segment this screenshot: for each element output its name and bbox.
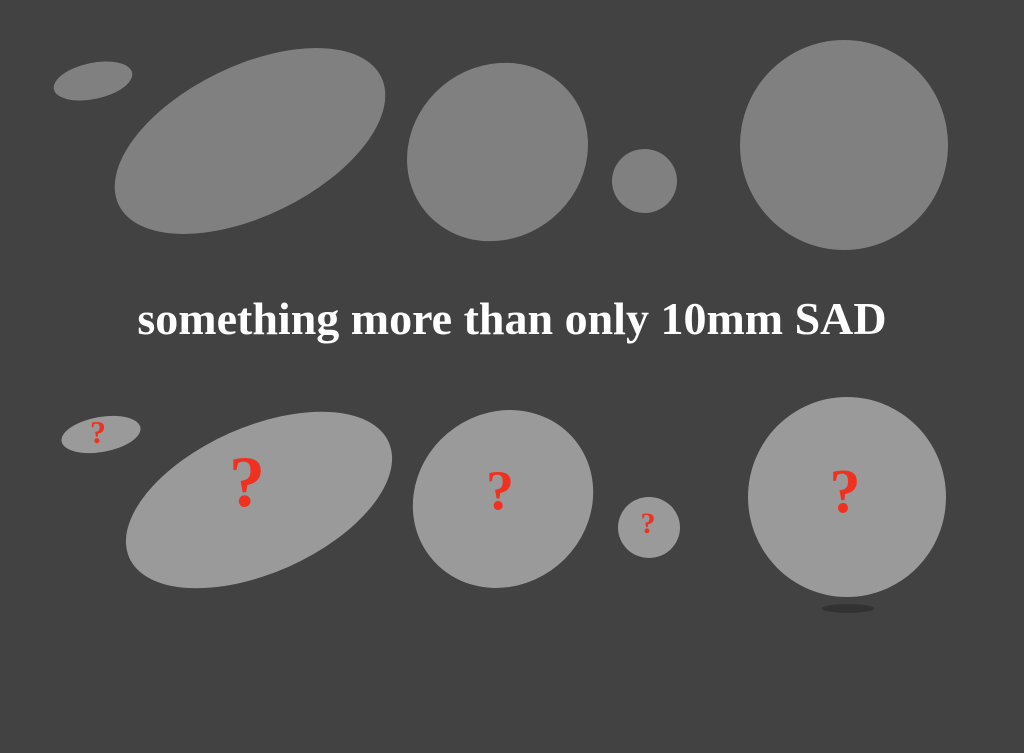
bottom-row-small-circle (618, 497, 680, 558)
top-row-large-ellipse (86, 10, 414, 273)
top-row-small-ellipse (50, 55, 136, 107)
slide-caption: something more than only 10mm SAD (0, 292, 1024, 345)
bottom-row-large-ellipse (100, 376, 419, 625)
bottom-row-large-circle (748, 397, 946, 597)
slide-canvas: something more than only 10mm SAD ????? (0, 0, 1024, 753)
top-row-medium-ellipse (371, 26, 625, 278)
top-row-small-circle (612, 149, 677, 213)
bottom-row-medium-ellipse (376, 373, 629, 624)
bottom-row-small-ellipse (59, 410, 144, 458)
shadow-smudge-artifact (822, 604, 874, 613)
top-row-large-circle (740, 40, 948, 250)
